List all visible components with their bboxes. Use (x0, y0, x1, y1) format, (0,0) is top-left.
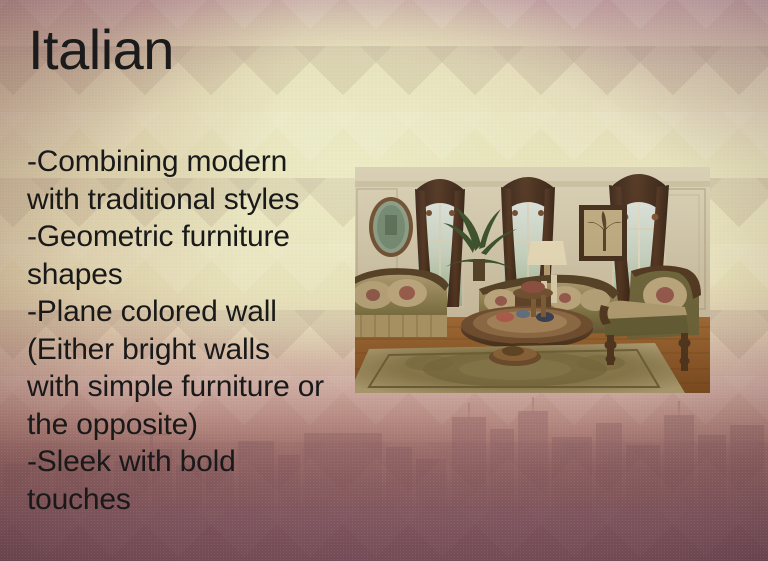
body-line-3: -Geometric furniture (27, 218, 357, 256)
body-line-10: touches (27, 481, 357, 519)
body-line-2: with traditional styles (27, 181, 357, 219)
body-line-4: shapes (27, 256, 357, 294)
italian-living-room-photo (355, 167, 710, 393)
body-line-1: -Combining modern (27, 143, 357, 181)
body-line-5: -Plane colored wall (27, 293, 357, 331)
slide-title: Italian (28, 20, 174, 80)
body-line-6: (Either bright walls (27, 331, 357, 369)
body-line-9: -Sleek with bold (27, 443, 357, 481)
slide-canvas: Italian -Combining modern with tradition… (0, 0, 768, 561)
body-line-7: with simple furniture or (27, 368, 357, 406)
body-line-8: the opposite) (27, 406, 357, 444)
slide-body-text: -Combining modern with traditional style… (27, 143, 357, 518)
